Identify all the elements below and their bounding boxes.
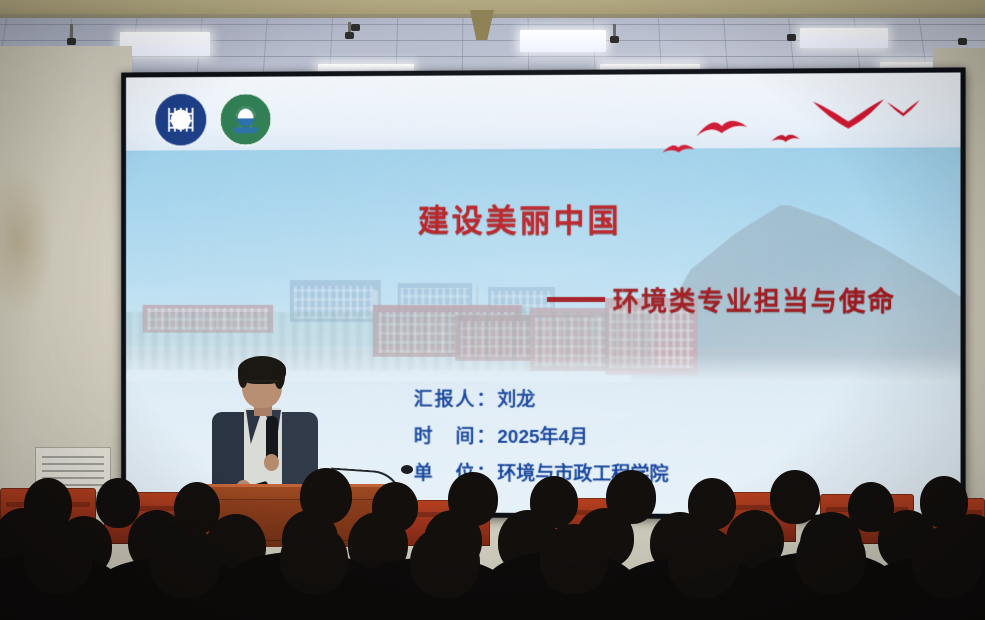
bird-icon: [811, 97, 886, 132]
ceiling-light-panel: [120, 32, 210, 56]
lecture-hall-photo: 建设美丽中国 环境类专业担当与使命 汇报人：刘龙 时 间：2025年4月 单 位…: [0, 0, 985, 620]
audience-head: [540, 524, 608, 594]
info-label-presenter: 汇报人：: [414, 389, 498, 410]
university-emblem-icon: [155, 93, 208, 147]
info-value-date: 2025年4月: [497, 426, 588, 447]
flying-birds-graphic: [651, 90, 935, 164]
presenter-hand-upper: [264, 454, 279, 471]
ceiling-grid-line: [0, 56, 985, 57]
wall-stain: [0, 166, 54, 316]
ceiling-hanger-knob: [351, 24, 360, 31]
audience-head: [150, 526, 220, 598]
bird-icon: [661, 140, 695, 156]
audience-head: [770, 470, 820, 524]
school-of-environment-emblem-icon: [219, 92, 272, 146]
ceiling-light-panel: [520, 30, 606, 52]
info-line-date: 时 间：2025年4月: [414, 418, 669, 456]
audience-head: [668, 526, 738, 598]
ceiling-hanger-knob: [787, 34, 796, 41]
slide-logos: [155, 92, 273, 146]
slide-title: 建设美丽中国: [418, 195, 622, 240]
ceiling-hanger-knob: [610, 36, 619, 43]
info-value-presenter: 刘龙: [497, 389, 535, 410]
ceiling-grid-line: [0, 24, 985, 25]
audience-head: [24, 524, 92, 594]
audience-head: [410, 526, 480, 598]
slide-subtitle: 环境类专业担当与使命: [547, 281, 896, 318]
ceiling-hanger-knob: [958, 38, 967, 45]
bird-icon: [770, 131, 800, 143]
info-line-presenter: 汇报人：刘龙: [414, 381, 669, 419]
ceiling-light-panel: [800, 28, 888, 48]
ceiling-hanger-knob: [345, 32, 354, 39]
audience-head: [96, 478, 140, 528]
bird-icon: [696, 115, 748, 137]
audience-head: [796, 522, 866, 594]
info-label-date: 时 间：: [414, 426, 498, 447]
audience-head: [912, 526, 982, 598]
audience-head: [280, 524, 348, 594]
audience: [0, 470, 985, 620]
slide-subtitle-text: 环境类专业担当与使命: [613, 281, 896, 318]
presenter-glasses: [245, 380, 279, 390]
bird-icon: [886, 98, 921, 116]
subtitle-dash-icon: [547, 297, 605, 302]
ceiling-hanger-knob: [67, 38, 76, 45]
